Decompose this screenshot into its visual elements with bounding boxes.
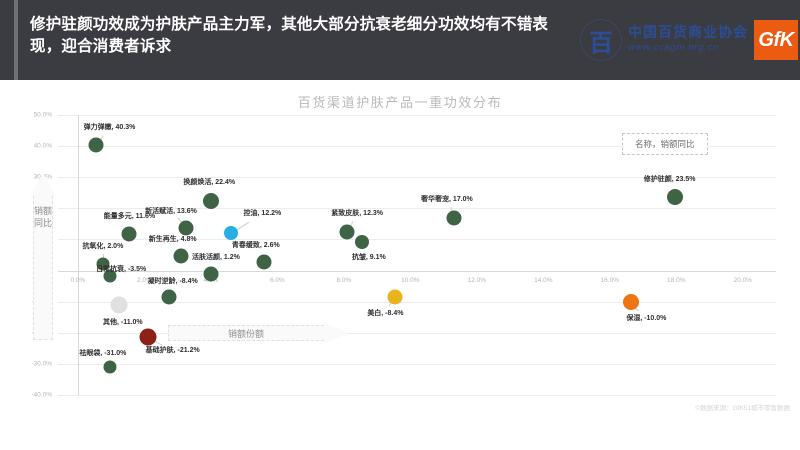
- source-note: ©数据来源：GfK51城市零售数据: [0, 402, 790, 412]
- y-axis-arrow-icon: [30, 172, 56, 340]
- ccagm-emblem-icon: 百: [578, 17, 624, 63]
- ccagm-glyph: 百: [578, 17, 624, 63]
- x-axis-tick-label: 20.0%: [723, 277, 763, 284]
- x-arrow-head-icon: [324, 322, 348, 344]
- x-axis-tick-label: 12.0%: [457, 277, 497, 284]
- scatter-point-label: 紧致皮肤, 12.3%: [331, 208, 383, 218]
- x-axis-arrow-label: 销额份额: [168, 327, 324, 340]
- scatter-point-label: 基础护肤, -21.2%: [146, 345, 200, 355]
- scatter-point-label: 新活赋活, 13.6%: [145, 206, 197, 216]
- scatter-bubble[interactable]: [446, 210, 461, 225]
- logo-group: 百 中国百货商业协会 www.ccagm.org.cn GfK: [578, 14, 790, 66]
- scatter-bubble[interactable]: [203, 267, 218, 282]
- scatter-bubble[interactable]: [203, 193, 219, 209]
- scatter-point-label: 弹力弹嫩, 40.3%: [84, 122, 136, 132]
- x-axis-tick-label: 6.0%: [257, 277, 297, 284]
- x-axis-tick-label: 18.0%: [656, 277, 696, 284]
- scatter-point-label: 抗氧化, 2.0%: [82, 241, 123, 251]
- scatter-point-label: 修护驻颜, 23.5%: [644, 174, 696, 184]
- y-axis-tick-label: -40.0%: [12, 392, 52, 399]
- slide-root: 修护驻颜功效成为护肤产品主力军，其他大部分抗衰老细分功效均有不错表现，迎合消费者…: [0, 0, 800, 450]
- x-axis-line: [58, 271, 776, 272]
- chart-title: 百货渠道护肤产品一重功效分布: [0, 92, 800, 111]
- scatter-bubble[interactable]: [623, 294, 639, 310]
- scatter-point-label: 抗皱, 9.1%: [352, 252, 386, 262]
- legend-box: 名称，销额同比: [622, 133, 708, 155]
- scatter-bubble[interactable]: [162, 289, 177, 304]
- scatter-bubble[interactable]: [173, 248, 188, 263]
- scatter-bubble[interactable]: [340, 225, 355, 240]
- scatter-bubble[interactable]: [89, 138, 104, 153]
- scatter-bubble[interactable]: [388, 289, 403, 304]
- gridline-horizontal: [58, 395, 776, 396]
- scatter-point-label: 祛眼袋, -31.0%: [79, 348, 126, 358]
- gfk-logo: GfK: [754, 20, 798, 60]
- scatter-bubble[interactable]: [178, 221, 193, 236]
- scatter-point-label: 其他, -11.0%: [103, 317, 143, 327]
- x-axis-tick-label: 14.0%: [523, 277, 563, 284]
- scatter-point-label: 青春缓致, 2.6%: [232, 240, 280, 250]
- x-axis-tick-label: 8.0%: [324, 277, 364, 284]
- scatter-point-label: 保湿, -10.0%: [626, 313, 666, 323]
- scatter-bubble[interactable]: [111, 296, 128, 313]
- scatter-bubble[interactable]: [103, 361, 116, 374]
- y-axis-tick-label: 40.0%: [12, 143, 52, 150]
- scatter-point-label: 凝时逆龄, -8.4%: [148, 276, 198, 286]
- scatter-bubble[interactable]: [224, 226, 238, 240]
- ccagm-url: www.ccagm.org.cn: [628, 43, 748, 53]
- scatter-point-label: 新生再生, 4.8%: [149, 234, 197, 244]
- gridline-horizontal: [58, 333, 776, 334]
- scatter-plot: 50.0%40.0%30.0%20.0%10.0%0.0%-10.0%-20.0…: [58, 115, 776, 395]
- y-axis-tick-label: -30.0%: [12, 360, 52, 367]
- y-axis-tick-label: 50.0%: [12, 112, 52, 119]
- scatter-bubble[interactable]: [667, 189, 683, 205]
- ccagm-name: 中国百货商业协会: [628, 27, 748, 42]
- gridline-horizontal: [58, 115, 776, 116]
- x-axis-tick-label: 0.0%: [58, 277, 98, 284]
- x-axis-tick-label: 10.0%: [390, 277, 430, 284]
- scatter-point-label: 控油, 12.2%: [244, 208, 282, 218]
- y-axis-arrow-label-text: 销额同比: [34, 206, 52, 228]
- page-title: 修护驻颜功效成为护肤产品主力军，其他大部分抗衰老细分功效均有不错表现，迎合消费者…: [30, 14, 550, 59]
- scatter-point-label: 活肤活颜, 1.2%: [192, 252, 240, 262]
- header-accent-bar: [14, 0, 18, 80]
- scatter-bubble[interactable]: [139, 328, 156, 345]
- y-arrow-head-icon: [30, 172, 56, 197]
- y-axis-arrow-label: 销额同比: [30, 205, 56, 229]
- scatter-bubble[interactable]: [122, 227, 137, 242]
- scatter-point-label: 奢华奢宠, 17.0%: [421, 194, 473, 204]
- scatter-bubble[interactable]: [257, 255, 272, 270]
- scatter-point-label: 日常抗衰, -3.5%: [96, 264, 146, 274]
- scatter-point-label: 换颜焕活, 22.4%: [183, 177, 235, 187]
- scatter-point-label: 美白, -8.4%: [367, 308, 403, 318]
- gridline-horizontal: [58, 364, 776, 365]
- x-axis-tick-label: 16.0%: [590, 277, 630, 284]
- ccagm-text-block: 中国百货商业协会 www.ccagm.org.cn: [628, 27, 748, 54]
- scatter-bubble[interactable]: [355, 235, 369, 249]
